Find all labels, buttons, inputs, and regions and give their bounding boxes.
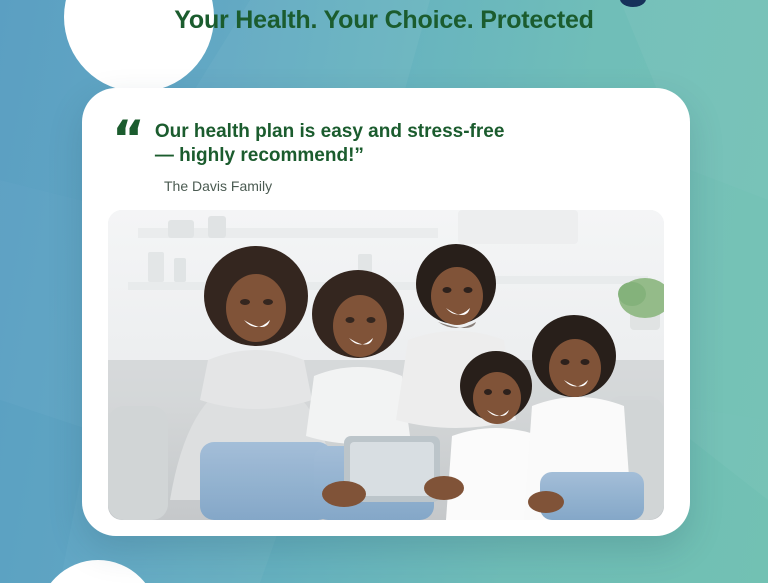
quote-mark-icon: “	[112, 120, 145, 158]
decorative-circle-bottom-left	[38, 560, 158, 583]
page-title: Your Health. Your Choice. Protected	[0, 4, 768, 36]
family-photo	[108, 210, 664, 520]
testimonial-card: “ Our health plan is easy and stress-fre…	[82, 88, 690, 536]
quote-block: “ Our health plan is easy and stress-fre…	[108, 118, 664, 168]
slide-canvas: Your Health. Your Choice. Protected “ Ou…	[0, 0, 768, 583]
testimonial-quote: Our health plan is easy and stress-free—…	[155, 118, 515, 168]
testimonial-attribution: The Davis Family	[164, 177, 664, 195]
